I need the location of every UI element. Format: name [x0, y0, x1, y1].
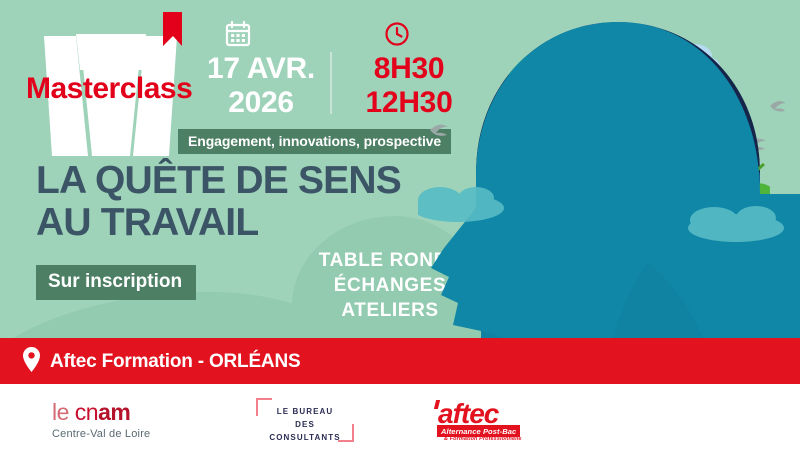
cnam-am: am — [98, 399, 130, 425]
map-pin-icon — [22, 347, 41, 377]
cnam-le: le — [52, 399, 75, 425]
location-content: Aftec Formation - ORLÉANS — [22, 349, 300, 375]
date-time-divider — [330, 52, 332, 114]
event-date-line1: 17 AVR. — [196, 52, 326, 86]
registration-badge: Sur inscription — [36, 265, 196, 300]
page-title-line1: LA QUÊTE DE SENS — [36, 160, 466, 202]
cnam-cn: cn — [75, 399, 98, 425]
bureau-line2: DES — [250, 418, 360, 431]
bureau-text: LE BUREAU DES CONSULTANTS — [250, 405, 360, 445]
page-title-line2: AU TRAVAIL — [36, 202, 466, 244]
event-date-line2: 2026 — [196, 86, 326, 120]
logo-bureau-des-consultants: LE BUREAU DES CONSULTANTS — [250, 398, 360, 442]
aftec-wordmark: aftec — [438, 400, 498, 428]
logo-aftec: aftec Alternance Post-Bac & Formation Pr… — [432, 398, 552, 444]
location-text: Aftec Formation - ORLÉANS — [50, 351, 300, 373]
calendar-icon — [224, 20, 252, 53]
cnam-wordmark: le cnam — [52, 401, 202, 424]
event-date: 17 AVR. 2026 — [196, 52, 326, 119]
masterclass-wordmark: Masterclass — [26, 72, 192, 106]
logo-cnam: le cnam Centre-Val de Loire — [52, 401, 202, 440]
aftec-subtitle: & Formation Professionnelle — [444, 436, 522, 442]
bureau-line3: CONSULTANTS — [250, 431, 360, 444]
cnam-subtitle: Centre-Val de Loire — [52, 428, 202, 440]
clock-icon — [383, 20, 411, 53]
page-title: LA QUÊTE DE SENS AU TRAVAIL — [36, 160, 466, 244]
event-tagline: Engagement, innovations, prospective — [178, 129, 451, 154]
bureau-line1: LE BUREAU — [250, 405, 360, 418]
bracket-top-horizontal — [256, 398, 272, 400]
event-poster: Masterclass 17 AVR. 2026 8H30 12H30 — [0, 0, 800, 450]
